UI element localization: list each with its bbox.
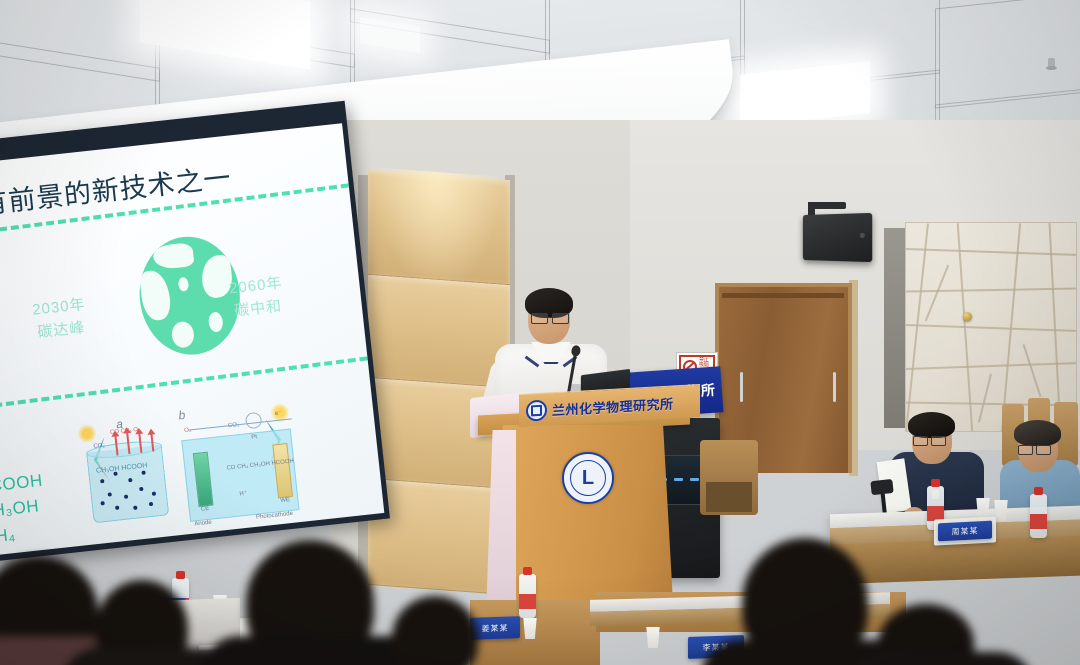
wall-knob-icon xyxy=(963,312,972,321)
wall-speaker xyxy=(803,213,872,262)
we-label: WE xyxy=(280,497,290,504)
electron-label: e⁻ xyxy=(275,409,282,417)
attendee-eyeglasses-icon xyxy=(1018,445,1049,453)
bottle-label xyxy=(1030,514,1047,529)
product-list: H₂ CO HCOOH CH₃OH CH₄ etc. xyxy=(0,416,52,555)
potentiostat-label: Pt xyxy=(251,434,257,441)
eyeglasses-icon xyxy=(531,313,568,322)
carbon-peak-annotation: 2030年 碳达峰 xyxy=(31,294,89,345)
nameplate-right-text: 周某某 xyxy=(952,525,979,537)
attendee-hair xyxy=(1014,420,1061,446)
water-bottle[interactable] xyxy=(519,574,536,618)
water-bottle[interactable] xyxy=(1030,494,1047,538)
institute-emblem: L xyxy=(562,452,614,504)
emblem-letter: L xyxy=(570,460,606,496)
cabinet-led-icon xyxy=(674,478,683,481)
decorative-stone-panel xyxy=(905,222,1077,432)
figure-panel-b-label: b xyxy=(178,408,186,423)
door-handle-icon[interactable] xyxy=(740,372,743,402)
institute-seal-icon xyxy=(526,399,547,421)
lectern-banner-text: 兰州化学物理研究所 xyxy=(552,393,674,419)
nameplate-holder: 周某某 xyxy=(934,516,996,545)
ce-label: CE xyxy=(201,506,210,513)
light-source-icon xyxy=(77,424,97,444)
beaker-a xyxy=(86,445,169,524)
wall-pilaster xyxy=(884,228,906,428)
attendee-eyeglasses-icon xyxy=(913,436,944,444)
side-chair xyxy=(700,440,758,515)
nameplate-right: 周某某 xyxy=(938,521,992,542)
circuit-wire xyxy=(188,418,291,430)
speaker-mount-arm xyxy=(812,202,846,209)
door-handle-icon[interactable] xyxy=(833,372,836,402)
projection-screen-assembly: 最有前景的新技术之一 2030年 碳达峰 2060年 碳中和 xyxy=(0,99,413,592)
proton-label: H⁺ xyxy=(239,490,247,498)
projected-slide: 最有前景的新技术之一 2030年 碳达峰 2060年 碳中和 xyxy=(0,123,384,555)
anode-label: Anode xyxy=(194,520,212,528)
conference-room-photo: 禁止吸烟 NO SMOKING 最有前景的新技术之一 2030年 xyxy=(0,0,1080,665)
bottle-label xyxy=(519,594,536,609)
cabinet-led-icon xyxy=(690,478,699,481)
paper-cup[interactable] xyxy=(645,627,661,648)
door-top-rail xyxy=(722,293,844,298)
meter-icon xyxy=(245,412,263,430)
nameplate-center-text: 姜某某 xyxy=(482,622,509,634)
attendee-hair xyxy=(908,412,955,438)
carbon-neutral-annotation: 2060年 碳中和 xyxy=(228,273,286,324)
slide-divider-2 xyxy=(0,356,368,410)
co2-inlet-label: CO₂ xyxy=(93,443,105,450)
sprinkler-head-icon xyxy=(1048,58,1055,69)
